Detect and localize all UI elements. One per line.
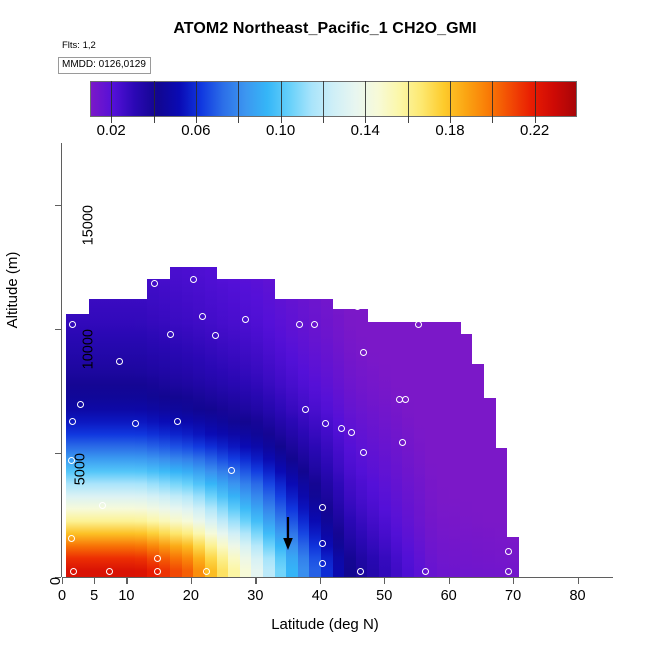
heatmap-column bbox=[391, 322, 403, 577]
observation-marker bbox=[132, 420, 139, 427]
observation-marker bbox=[357, 568, 364, 575]
heatmap-column bbox=[379, 322, 391, 577]
y-axis-tick bbox=[55, 453, 61, 454]
heatmap-field bbox=[62, 143, 613, 577]
heatmap-column bbox=[414, 322, 426, 577]
observation-marker bbox=[338, 425, 345, 432]
observation-marker bbox=[70, 296, 77, 303]
observation-marker bbox=[69, 418, 76, 425]
observation-marker bbox=[319, 504, 326, 511]
heatmap-column bbox=[124, 299, 136, 577]
heatmap-column bbox=[321, 299, 333, 577]
observation-marker bbox=[296, 321, 303, 328]
colorbar-separators bbox=[90, 81, 577, 117]
x-axis-tick bbox=[513, 578, 514, 584]
y-axis-tick-label: 5000 bbox=[72, 453, 88, 485]
heatmap-column bbox=[112, 299, 124, 577]
heatmap-column bbox=[159, 279, 171, 577]
heatmap-column bbox=[344, 309, 356, 577]
colorbar-separator bbox=[323, 81, 324, 117]
heatmap-column bbox=[251, 279, 263, 577]
observation-marker bbox=[415, 321, 422, 328]
y-axis-tick bbox=[55, 205, 61, 206]
y-axis-tick bbox=[55, 329, 61, 330]
observation-marker bbox=[319, 560, 326, 567]
heatmap-column bbox=[309, 299, 321, 577]
heatmap-column bbox=[240, 279, 252, 577]
colorbar-separator bbox=[281, 81, 282, 117]
colorbar-tick-label: 0.10 bbox=[266, 122, 295, 139]
colorbar-separator bbox=[408, 81, 409, 117]
heatmap-column bbox=[483, 398, 495, 577]
page-title: ATOM2 Northeast_Pacific_1 CH2O_GMI bbox=[0, 20, 650, 38]
colorbar-tick-label: 0.18 bbox=[435, 122, 464, 139]
flights-label: Flts: 1,2 bbox=[62, 40, 96, 51]
heatmap-column bbox=[217, 279, 229, 577]
x-axis-tick-label: 70 bbox=[505, 588, 521, 604]
observation-marker bbox=[151, 280, 158, 287]
observation-marker bbox=[311, 321, 318, 328]
x-axis-tick bbox=[578, 578, 579, 584]
heatmap-column bbox=[333, 309, 345, 577]
observation-marker bbox=[348, 429, 355, 436]
heatmap-column bbox=[460, 334, 472, 577]
x-axis-line bbox=[62, 577, 613, 578]
observation-marker bbox=[203, 568, 210, 575]
observation-marker bbox=[69, 321, 76, 328]
x-axis-tick bbox=[94, 578, 95, 584]
heatmap-column bbox=[449, 322, 461, 577]
x-axis-tick bbox=[255, 578, 256, 584]
colorbar-tick-label: 0.02 bbox=[97, 122, 126, 139]
x-axis-tick-label: 40 bbox=[312, 588, 328, 604]
observation-marker bbox=[422, 568, 429, 575]
x-axis-tick-label: 50 bbox=[376, 588, 392, 604]
heatmap-column bbox=[367, 322, 379, 577]
x-axis-tick bbox=[126, 578, 127, 584]
x-axis-tick-label: 0 bbox=[58, 588, 66, 604]
heatmap-column bbox=[495, 448, 507, 577]
observation-marker bbox=[116, 358, 123, 365]
x-axis-tick-label: 80 bbox=[569, 588, 585, 604]
x-axis-tick bbox=[449, 578, 450, 584]
y-axis-tick-label: 10000 bbox=[80, 329, 96, 369]
heatmap-column bbox=[147, 279, 159, 577]
colorbar-separator bbox=[154, 81, 155, 117]
observation-marker bbox=[190, 276, 197, 283]
observation-marker bbox=[79, 296, 86, 303]
mmdd-label: MMDD: 0126,0129 bbox=[58, 57, 151, 74]
colorbar-separator bbox=[196, 81, 197, 117]
observation-marker bbox=[319, 540, 326, 547]
heatmap-column bbox=[298, 299, 310, 577]
x-axis-tick-label: 30 bbox=[247, 588, 263, 604]
observation-marker bbox=[106, 568, 113, 575]
heatmap-column bbox=[402, 322, 414, 577]
heatmap-column bbox=[101, 299, 113, 577]
colorbar-separator bbox=[535, 81, 536, 117]
colorbar-tick-label: 0.06 bbox=[181, 122, 210, 139]
y-axis-title: Altitude (m) bbox=[4, 252, 21, 329]
colorbar-separator bbox=[492, 81, 493, 117]
observation-marker bbox=[360, 449, 367, 456]
heatmap-column bbox=[228, 279, 240, 577]
observation-marker bbox=[154, 568, 161, 575]
colorbar-separator bbox=[238, 81, 239, 117]
observation-marker bbox=[70, 568, 77, 575]
heatmap-column bbox=[437, 322, 449, 577]
y-axis-tick-label: 0 bbox=[48, 577, 64, 585]
heatmap-column bbox=[135, 299, 147, 577]
heatmap-column bbox=[472, 364, 484, 577]
y-axis-tick-label: 15000 bbox=[80, 205, 96, 245]
x-axis-tick-label: 10 bbox=[118, 588, 134, 604]
heatmap-column bbox=[182, 267, 194, 577]
colorbar-tick-labels: 0.020.060.100.140.180.22 bbox=[90, 122, 577, 142]
observation-marker bbox=[322, 420, 329, 427]
heatmap-column bbox=[425, 322, 437, 577]
observation-marker bbox=[399, 439, 406, 446]
colorbar-tick-label: 0.22 bbox=[520, 122, 549, 139]
down-arrow-marker bbox=[282, 517, 294, 551]
colorbar-separator bbox=[365, 81, 366, 117]
x-axis-tick-label: 20 bbox=[183, 588, 199, 604]
heatmap-column bbox=[205, 267, 217, 577]
observation-marker bbox=[174, 418, 181, 425]
x-axis-tick bbox=[191, 578, 192, 584]
observation-marker bbox=[505, 568, 512, 575]
x-axis-tick bbox=[320, 578, 321, 584]
x-axis-title: Latitude (deg N) bbox=[0, 616, 650, 633]
colorbar: 0.020.060.100.140.180.22 bbox=[90, 81, 577, 119]
heatmap-column bbox=[263, 279, 275, 577]
x-axis-tick-label: 5 bbox=[90, 588, 98, 604]
plot-root: ATOM2 Northeast_Pacific_1 CH2O_GMI Flts:… bbox=[0, 0, 650, 650]
observation-marker bbox=[167, 331, 174, 338]
y-axis-line bbox=[61, 143, 62, 577]
x-axis-tick bbox=[384, 578, 385, 584]
colorbar-separator bbox=[450, 81, 451, 117]
colorbar-separator bbox=[111, 81, 112, 117]
x-axis-tick-label: 60 bbox=[441, 588, 457, 604]
colorbar-tick-label: 0.14 bbox=[351, 122, 380, 139]
